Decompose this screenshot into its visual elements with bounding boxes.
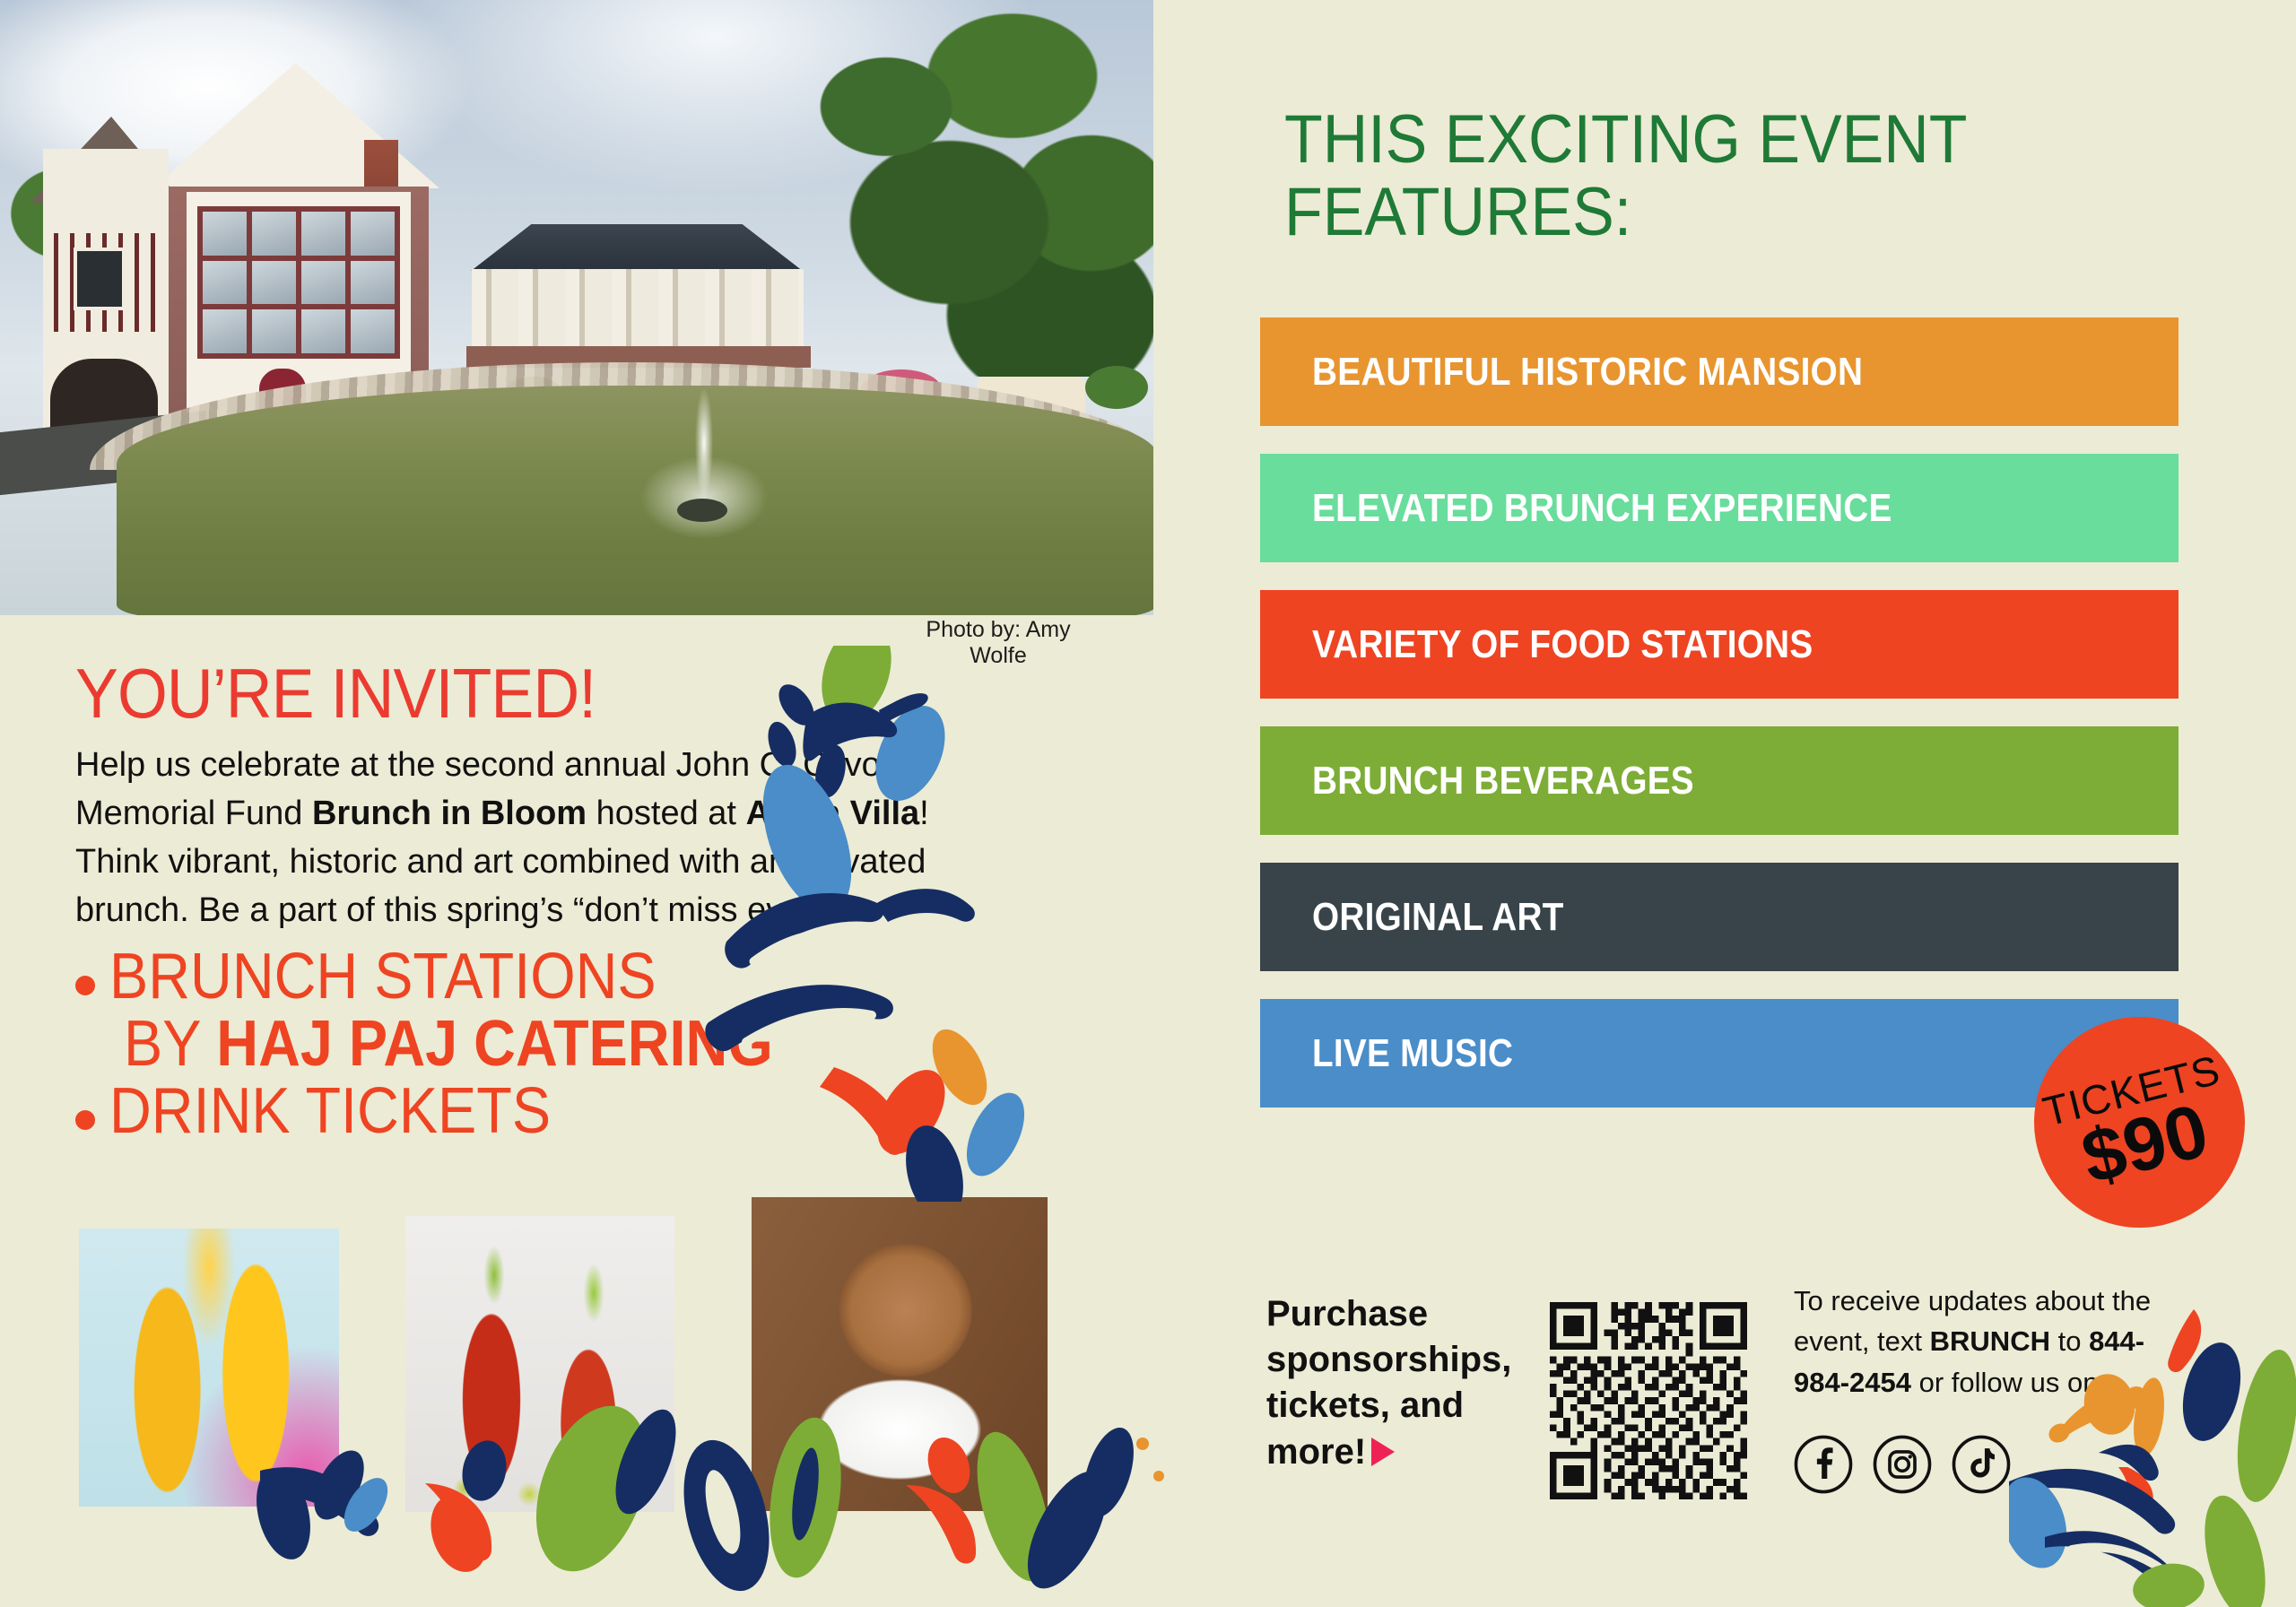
list-item: BRUNCH STATIONS bbox=[75, 943, 990, 1011]
bullet-list: BRUNCH STATIONS BY HAJ PAJ CATERING DRIN… bbox=[75, 943, 990, 1145]
purchase-callout: Purchase sponsorships, tickets, and more… bbox=[1266, 1291, 1562, 1475]
invitation-venue-name: Alden Villa bbox=[746, 795, 920, 832]
feature-label: ORIGINAL ART bbox=[1312, 895, 1564, 940]
contact-info: To receive updates about the event, text… bbox=[1794, 1281, 2161, 1403]
bullet-line-2: BY HAJ PAJ CATERING bbox=[124, 1011, 903, 1078]
bloody-mary-photo bbox=[405, 1216, 674, 1512]
wing-window bbox=[74, 248, 126, 310]
feature-bar-food-stations: VARIETY OF FOOD STATIONS bbox=[1260, 590, 2179, 699]
feature-label: BRUNCH BEVERAGES bbox=[1312, 759, 1694, 803]
flyer-page: Photo by: Amy Wolfe YOU’RE INVITED! Help… bbox=[0, 0, 2296, 1607]
page-title: YOU’RE INVITED! bbox=[75, 653, 596, 734]
shrub-3 bbox=[1085, 366, 1148, 409]
bullet-dot-icon bbox=[75, 976, 95, 995]
mimosa-photo bbox=[79, 1229, 339, 1507]
feature-bar-beverages: BRUNCH BEVERAGES bbox=[1260, 726, 2179, 835]
facebook-icon[interactable] bbox=[1794, 1435, 1853, 1494]
feature-bar-brunch-experience: ELEVATED BRUNCH EXPERIENCE bbox=[1260, 454, 2179, 562]
sms-keyword: BRUNCH bbox=[1930, 1325, 2050, 1357]
invitation-body: Help us celebrate at the second annual J… bbox=[75, 742, 963, 935]
ticket-price-badge: TICKETS $90 bbox=[2034, 1017, 2245, 1228]
bullet-line-3: DRINK TICKETS bbox=[109, 1078, 551, 1145]
instagram-icon[interactable] bbox=[1873, 1435, 1932, 1494]
fountain-base bbox=[677, 499, 727, 522]
feature-label: LIVE MUSIC bbox=[1312, 1031, 1513, 1076]
bullet-prefix: BY bbox=[124, 1008, 216, 1080]
feature-label: ELEVATED BRUNCH EXPERIENCE bbox=[1312, 486, 1892, 531]
window-grid bbox=[197, 206, 400, 359]
feature-label: BEAUTIFUL HISTORIC MANSION bbox=[1312, 350, 1863, 395]
feature-bar-mansion: BEAUTIFUL HISTORIC MANSION bbox=[1260, 317, 2179, 426]
invitation-text-2: hosted at bbox=[587, 795, 745, 832]
photo-credit: Photo by: Amy Wolfe bbox=[895, 617, 1101, 669]
pavilion-columns bbox=[472, 269, 804, 348]
contact-text-2: to bbox=[2050, 1325, 2089, 1357]
latte-photo bbox=[752, 1197, 1048, 1511]
feature-bar-original-art: ORIGINAL ART bbox=[1260, 863, 2179, 971]
features-heading: THIS EXCITING EVENT FEATURES: bbox=[1284, 104, 2109, 248]
mansion-photo bbox=[0, 0, 1153, 615]
tree-right bbox=[768, 0, 1153, 377]
bullet-dot-icon bbox=[75, 1110, 95, 1130]
list-item: DRINK TICKETS bbox=[75, 1078, 990, 1145]
contact-text-3: or follow us on bbox=[1911, 1367, 2099, 1398]
feature-label: VARIETY OF FOOD STATIONS bbox=[1312, 622, 1813, 667]
garden-pavilion bbox=[448, 224, 825, 368]
tiktok-icon[interactable] bbox=[1952, 1435, 2011, 1494]
social-links bbox=[1794, 1435, 2011, 1494]
play-triangle-icon bbox=[1371, 1438, 1395, 1466]
features-bar-list: BEAUTIFUL HISTORIC MANSION ELEVATED BRUN… bbox=[1260, 317, 2179, 1135]
qr-code[interactable] bbox=[1550, 1302, 1747, 1499]
bullet-line-1: BRUNCH STATIONS bbox=[109, 943, 657, 1011]
invitation-event-name: Brunch in Bloom bbox=[312, 795, 587, 832]
caterer-name: HAJ PAJ CATERING bbox=[216, 1008, 772, 1080]
pavilion-roof bbox=[448, 224, 825, 271]
